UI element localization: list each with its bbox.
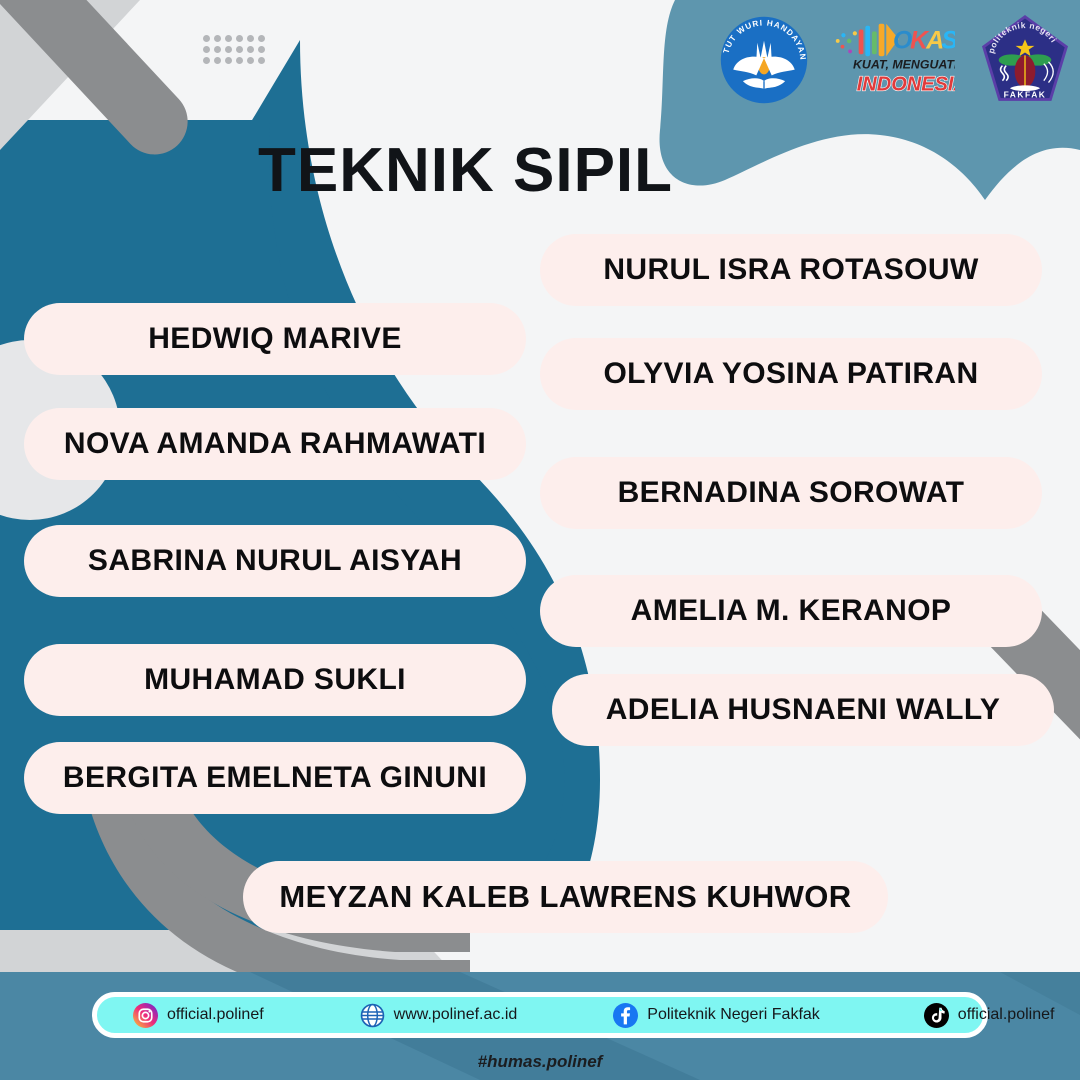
social-item-tiktok[interactable]: official.polinef bbox=[924, 1003, 1055, 1028]
student-name-pill: BERGITA EMELNETA GINUNI bbox=[24, 742, 526, 814]
student-name-label: AMELIA M. KERANOP bbox=[631, 594, 952, 628]
social-label: Politeknik Negeri Fakfak bbox=[647, 1006, 820, 1024]
student-name-pill: MUHAMAD SUKLI bbox=[24, 644, 526, 716]
svg-text:FAKFAK: FAKFAK bbox=[1004, 90, 1047, 100]
dot-grid-decoration bbox=[203, 35, 269, 68]
student-name-label: SABRINA NURUL AISYAH bbox=[88, 544, 462, 578]
social-item-facebook[interactable]: Politeknik Negeri Fakfak bbox=[613, 1003, 820, 1028]
student-name-pill: AMELIA M. KERANOP bbox=[540, 575, 1042, 647]
facebook-icon bbox=[613, 1003, 638, 1028]
student-name-pill: SABRINA NURUL AISYAH bbox=[24, 525, 526, 597]
social-label: official.polinef bbox=[958, 1006, 1055, 1024]
tut-wuri-handayani-logo: TUT WURI HANDAYANI bbox=[716, 12, 812, 108]
svg-text:SI: SI bbox=[942, 28, 955, 55]
student-name-label: BERNADINA SOROWAT bbox=[618, 476, 965, 510]
globe-icon bbox=[360, 1003, 385, 1028]
social-label: official.polinef bbox=[167, 1006, 264, 1024]
student-name-pill: BERNADINA SOROWAT bbox=[540, 457, 1042, 529]
student-name-label: HEDWIQ MARIVE bbox=[148, 322, 402, 356]
social-item-instagram[interactable]: official.polinef bbox=[133, 1003, 264, 1028]
student-name-label: OLYVIA YOSINA PATIRAN bbox=[603, 357, 978, 391]
politeknik-negeri-fakfak-logo: politeknik negeri FAKFAK bbox=[978, 12, 1072, 108]
student-name-label: BERGITA EMELNETA GINUNI bbox=[63, 761, 487, 795]
poster-canvas: TUT WURI HANDAYANI bbox=[0, 0, 1080, 1080]
instagram-icon bbox=[133, 1003, 158, 1028]
student-name-label: NOVA AMANDA RAHMAWATI bbox=[64, 427, 486, 461]
social-label: www.polinef.ac.id bbox=[394, 1006, 518, 1024]
svg-text:INDONESIA: INDONESIA bbox=[857, 73, 955, 95]
student-name-pill: ADELIA HUSNAENI WALLY bbox=[552, 674, 1054, 746]
logo-row: TUT WURI HANDAYANI bbox=[716, 12, 1068, 112]
svg-text:KUAT, MENGUATKAN: KUAT, MENGUATKAN bbox=[853, 58, 955, 72]
page-title: TEKNIK SIPIL bbox=[258, 140, 673, 202]
student-name-label: MEYZAN KALEB LAWRENS KUHWOR bbox=[279, 879, 851, 915]
student-name-pill: HEDWIQ MARIVE bbox=[24, 303, 526, 375]
student-name-pill: NURUL ISRA ROTASOUW bbox=[540, 234, 1042, 306]
student-name-pill: MEYZAN KALEB LAWRENS KUHWOR bbox=[243, 861, 888, 933]
hashtag-label: #humas.polinef bbox=[0, 1052, 1080, 1072]
vokasi-kuat-menguatkan-indonesia-logo: O K A SI KUAT, MENGUATKAN INDONESIA bbox=[829, 20, 955, 100]
tiktok-icon bbox=[924, 1003, 949, 1028]
student-name-label: ADELIA HUSNAENI WALLY bbox=[606, 693, 1001, 727]
student-name-pill: NOVA AMANDA RAHMAWATI bbox=[24, 408, 526, 480]
student-name-label: NURUL ISRA ROTASOUW bbox=[603, 253, 978, 287]
social-item-website[interactable]: www.polinef.ac.id bbox=[360, 1003, 518, 1028]
social-links-bar: official.polinef www.polinef.ac.id Polit… bbox=[92, 992, 988, 1038]
student-name-pill: OLYVIA YOSINA PATIRAN bbox=[540, 338, 1042, 410]
student-name-label: MUHAMAD SUKLI bbox=[144, 663, 406, 697]
